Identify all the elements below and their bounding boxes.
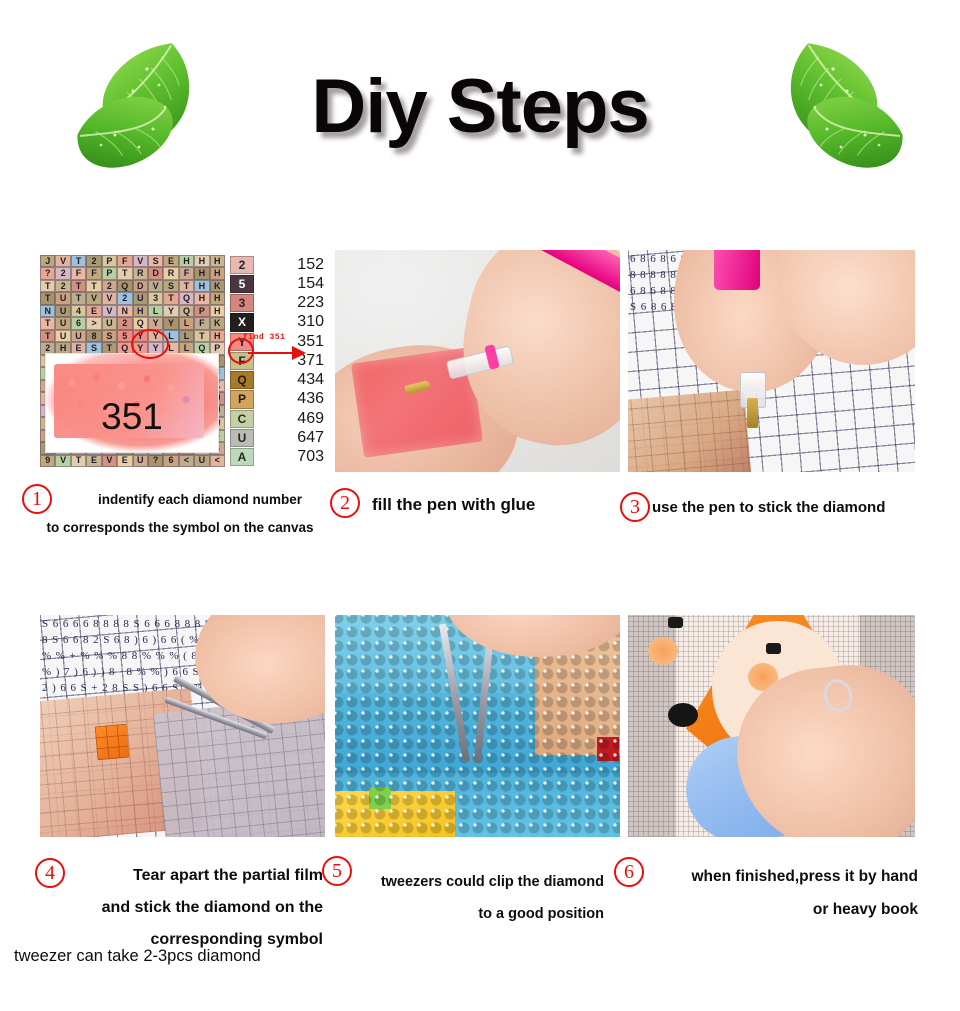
symbol-cell: 2: [102, 280, 117, 292]
symbol-cell: 9: [40, 455, 55, 467]
step-caption-4-line-1: Tear apart the partial film: [55, 860, 323, 892]
symbol-cell: V: [102, 305, 117, 317]
diamond-bag: 351: [45, 353, 219, 453]
symbol-cell: V: [102, 455, 117, 467]
symbol-cell: T: [71, 455, 86, 467]
symbol-cell: T: [194, 330, 209, 342]
step-number-6: 6: [614, 857, 644, 887]
symbol-cell: 6: [71, 317, 86, 329]
symbol-cell: V: [102, 292, 117, 304]
symbol-cell: L: [179, 317, 194, 329]
symbol-cell: Q: [117, 280, 132, 292]
symbol-cell: H: [194, 255, 209, 267]
symbol-cell: H: [210, 267, 225, 279]
legend-number: 310: [262, 313, 326, 332]
symbol-cell: E: [86, 305, 101, 317]
legend-swatch: P: [230, 390, 254, 408]
symbol-cell: H: [194, 280, 209, 292]
symbol-cell: T: [71, 280, 86, 292]
legend-swatch: U: [230, 429, 254, 447]
symbol-cell: J: [40, 255, 55, 267]
symbol-cell: U: [55, 292, 70, 304]
symbol-cell: <: [179, 455, 194, 467]
symbol-cell: V: [55, 255, 70, 267]
symbol-cell: 6: [163, 455, 178, 467]
symbol-cell: F: [194, 317, 209, 329]
diamond-bag-number: 351: [46, 398, 218, 435]
symbol-cell: U: [133, 292, 148, 304]
step-caption-3-line-1: use the pen to stick the diamond: [652, 497, 885, 519]
step-caption-1-line-1: indentify each diamond number: [30, 486, 330, 514]
fox-eye-left: [668, 617, 683, 628]
grid-highlight-ellipse: [131, 329, 169, 359]
orange-diamonds-placed: [95, 724, 130, 761]
symbol-cell: <: [210, 455, 225, 467]
legend-number: 436: [262, 390, 326, 409]
symbol-cell: 2: [117, 317, 132, 329]
symbol-cell: D: [148, 267, 163, 279]
tweezers-photo: [335, 615, 620, 837]
symbol-cell: U: [55, 330, 70, 342]
fox-cheek-left: [648, 637, 678, 665]
symbol-cell: S: [163, 280, 178, 292]
symbol-cell: 5: [117, 330, 132, 342]
symbol-cell: 8: [86, 330, 101, 342]
step-caption-3: use the pen to stick the diamond: [652, 497, 885, 519]
tweezer-note: tweezer can take 2-3pcs diamond: [14, 947, 261, 966]
symbol-cell: 2: [86, 255, 101, 267]
symbol-cell: Y: [163, 305, 178, 317]
symbol-cell: Y: [148, 317, 163, 329]
symbol-cell: V: [55, 455, 70, 467]
legend-swatch: 2: [230, 256, 254, 274]
symbol-cell: T: [40, 330, 55, 342]
symbol-cell: T: [117, 267, 132, 279]
press-finished-photo: [628, 615, 915, 837]
symbol-cell: L: [179, 330, 194, 342]
symbol-cell: U: [102, 317, 117, 329]
step-caption-5-line-1: tweezers could clip the diamond: [352, 866, 604, 898]
symbol-cell: K: [210, 317, 225, 329]
symbol-cell: U: [71, 330, 86, 342]
symbol-cell: ?: [40, 267, 55, 279]
symbol-cell: 3: [148, 292, 163, 304]
symbol-cell: L: [148, 305, 163, 317]
symbol-cell: 2: [55, 267, 70, 279]
symbol-cell: R: [133, 267, 148, 279]
symbol-cell: E: [117, 455, 132, 467]
pen-gold-tip: [747, 398, 758, 428]
symbol-cell: 2: [117, 292, 132, 304]
step-number-3: 3: [620, 492, 650, 522]
legend-number: 223: [262, 294, 326, 313]
symbol-cell: V: [133, 255, 148, 267]
step-number-5: 5: [322, 856, 352, 886]
symbol-cell: R: [163, 267, 178, 279]
step-caption-6: when finished,press it by hand or heavy …: [646, 860, 918, 926]
step-caption-1-line-2: to corresponds the symbol on the canvas: [30, 514, 330, 542]
legend-number: 469: [262, 409, 326, 428]
legend-number: 647: [262, 428, 326, 447]
symbol-cell: T: [40, 292, 55, 304]
symbol-cell: H: [179, 255, 194, 267]
symbol-cell: P: [194, 305, 209, 317]
symbol-cell: U: [133, 455, 148, 467]
symbol-cell: P: [102, 255, 117, 267]
symbol-cell: T: [40, 280, 55, 292]
symbol-cell: F: [117, 255, 132, 267]
step-caption-6-line-1: when finished,press it by hand: [646, 860, 918, 893]
symbol-cell: N: [117, 305, 132, 317]
step-caption-2: fill the pen with glue: [372, 493, 535, 517]
legend-swatch: A: [230, 448, 254, 466]
symbol-cell: S: [148, 255, 163, 267]
symbol-cell: E: [163, 255, 178, 267]
symbol-cell: V: [148, 280, 163, 292]
legend-swatch: 5: [230, 275, 254, 293]
symbol-cell: Q: [179, 305, 194, 317]
find-arrow-icon: [248, 344, 308, 362]
symbol-cell: V: [86, 292, 101, 304]
symbol-cell: H: [210, 330, 225, 342]
symbol-cell: K: [210, 280, 225, 292]
symbol-cell: U: [55, 317, 70, 329]
symbol-cell: 4: [71, 305, 86, 317]
pen-stick-photo: 6868686868686868S6868686888888888S686868…: [628, 250, 915, 472]
step-caption-2-line-1: fill the pen with glue: [372, 493, 535, 517]
step-caption-6-line-2: or heavy book: [646, 893, 918, 926]
page-header: Diy Steps: [0, 0, 960, 215]
symbol-cell: N: [40, 305, 55, 317]
symbol-cell: T: [86, 280, 101, 292]
symbol-cell: T: [179, 280, 194, 292]
symbol-cell: T: [40, 317, 55, 329]
legend-number: 154: [262, 274, 326, 293]
step-number-2: 2: [330, 488, 360, 518]
symbol-cell: >: [86, 317, 101, 329]
symbol-cell: U: [55, 305, 70, 317]
symbol-cell: T: [71, 292, 86, 304]
symbol-cell: F: [86, 267, 101, 279]
symbol-cell: T: [163, 292, 178, 304]
symbol-cell: T: [71, 255, 86, 267]
symbol-cell: F: [179, 267, 194, 279]
brown-area-patch: [628, 390, 752, 472]
step-caption-5-line-2: to a good position: [352, 898, 604, 930]
symbol-cell: E: [86, 455, 101, 467]
legend-swatch: Q: [230, 371, 254, 389]
legend-swatch: X: [230, 313, 254, 331]
symbol-cell: F: [71, 267, 86, 279]
step-caption-4: Tear apart the partial film and stick th…: [55, 860, 323, 956]
symbol-cell: H: [194, 267, 209, 279]
symbol-cell: D: [133, 280, 148, 292]
symbol-cell: H: [210, 255, 225, 267]
fox-nose: [668, 703, 698, 727]
symbol-cell: H: [133, 305, 148, 317]
symbol-cell: P: [102, 267, 117, 279]
symbol-cell: Y: [163, 317, 178, 329]
legend-swatch: 3: [230, 294, 254, 312]
green-leaves-right-icon: [765, 25, 925, 185]
legend-number: 703: [262, 448, 326, 467]
symbol-cell: H: [194, 292, 209, 304]
fox-eye-right: [766, 643, 781, 654]
legend-swatch: C: [230, 410, 254, 428]
legend-number: 152: [262, 255, 326, 274]
symbol-cell: Q: [133, 317, 148, 329]
legend-number: 434: [262, 371, 326, 390]
tear-film-photo: S66668888S6668888P86668886S8S6682S68)6)6…: [40, 615, 325, 837]
symbol-cell: 2: [55, 280, 70, 292]
symbol-cell: H: [210, 292, 225, 304]
symbol-cell: S: [102, 330, 117, 342]
step-caption-4-line-2: and stick the diamond on the: [55, 892, 323, 924]
symbol-cell: Q: [179, 292, 194, 304]
pen-glue-photo: [335, 250, 620, 472]
symbol-cell: U: [194, 455, 209, 467]
symbol-cell: ?: [148, 455, 163, 467]
step-caption-1: indentify each diamond number to corresp…: [30, 486, 330, 542]
step-caption-5: tweezers could clip the diamond to a goo…: [352, 866, 604, 930]
symbol-cell: H: [210, 305, 225, 317]
pink-pen-body: [714, 250, 760, 290]
